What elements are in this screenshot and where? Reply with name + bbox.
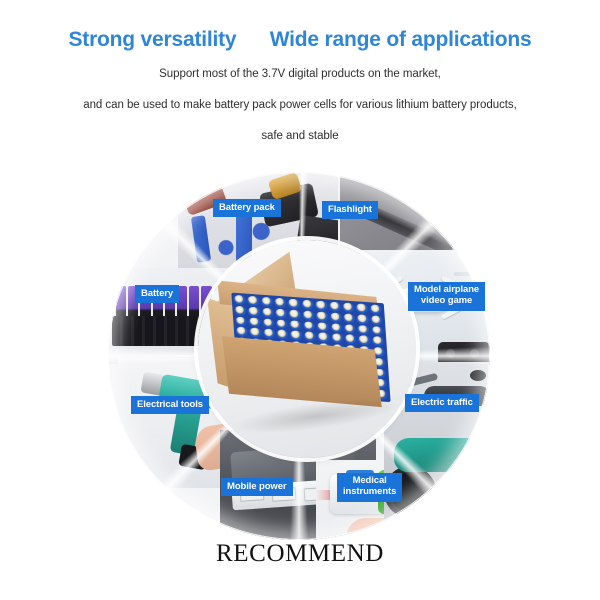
label-electrical-tools[interactable]: Electrical tools <box>131 396 209 414</box>
battery-cell-top <box>302 310 315 321</box>
battery-cell-top <box>263 329 276 340</box>
battery-cell-top <box>274 298 287 309</box>
battery-cell-top <box>249 328 262 339</box>
battery-cell-top <box>276 330 289 341</box>
battery-cell-top <box>288 299 301 310</box>
page-header: Strong versatility Wide range of applica… <box>0 0 600 142</box>
battery-cell-top <box>371 326 384 337</box>
battery-cell-top <box>356 314 369 325</box>
battery-cell-top <box>343 313 356 324</box>
battery-cell-top <box>233 295 246 306</box>
battery-cell-top <box>371 336 384 347</box>
label-electric-traffic[interactable]: Electric traffic <box>405 394 479 412</box>
subtitle-line-3: safe and stable <box>0 130 600 142</box>
label-flashlight[interactable]: Flashlight <box>322 201 378 219</box>
label-mobile-power[interactable]: Mobile power <box>221 478 293 496</box>
battery-cell-top <box>262 318 275 329</box>
battery-cell-top <box>330 323 343 334</box>
page-title-right: Wide range of applications <box>270 28 532 51</box>
battery-cell-top <box>370 315 383 326</box>
scooter-body-shape <box>394 438 490 472</box>
battery-cell-top <box>344 334 357 345</box>
battery-cell-top <box>317 332 330 343</box>
application-collage-circle <box>108 172 490 540</box>
battery-cell-top <box>234 305 247 316</box>
label-medical-line2: instruments <box>343 487 396 498</box>
battery-cell-top <box>303 321 316 332</box>
battery-cell-top <box>290 331 303 342</box>
hero-battery-box-circle <box>198 240 416 458</box>
battery-cell-top <box>249 317 262 328</box>
battery-cell-top <box>235 316 248 327</box>
battery-cell-top <box>289 309 302 320</box>
recommend-heading: RECOMMEND <box>0 540 600 568</box>
drone-propeller-shape <box>454 272 476 276</box>
battery-cell-top <box>342 302 355 313</box>
label-medical-instruments[interactable]: Medical instruments <box>337 473 402 502</box>
battery-cell-top <box>329 301 342 312</box>
battery-cell-top <box>236 327 249 338</box>
battery-cell-top <box>329 312 342 323</box>
subtitle-line-1: Support most of the 3.7V digital product… <box>0 68 600 80</box>
scooter-mirror-shape <box>470 370 486 381</box>
carton-box <box>198 252 415 443</box>
battery-cell-top <box>369 304 382 315</box>
battery-cell-top <box>357 325 370 336</box>
battery-cell-top <box>304 331 317 342</box>
subtitle-line-2: and can be used to make battery pack pow… <box>0 99 600 111</box>
label-battery-pack[interactable]: Battery pack <box>213 199 281 217</box>
label-battery[interactable]: Battery <box>135 285 179 303</box>
battery-cell-top <box>301 299 314 310</box>
battery-cell-top <box>356 303 369 314</box>
battery-cell-top <box>358 335 371 346</box>
battery-cell-top <box>316 322 329 333</box>
battery-cell-top <box>344 324 357 335</box>
battery-cell-top <box>276 319 289 330</box>
battery-cell-top <box>248 306 261 317</box>
page-title: Strong versatility Wide range of applica… <box>0 28 600 52</box>
label-model-airplane[interactable]: Model airplane video game <box>408 282 485 311</box>
battery-cell-top <box>275 308 288 319</box>
battery-cell-top <box>315 300 328 311</box>
label-model-airplane-line2: video game <box>414 296 479 307</box>
battery-cell-top <box>289 320 302 331</box>
battery-cell-top <box>316 311 329 322</box>
battery-cell-top <box>331 333 344 344</box>
battery-cell-top <box>261 307 274 318</box>
scooter-wheel-shape <box>458 466 490 518</box>
battery-cell-top <box>247 296 260 307</box>
battery-cell-top <box>261 297 274 308</box>
page-title-left: Strong versatility <box>68 28 236 51</box>
